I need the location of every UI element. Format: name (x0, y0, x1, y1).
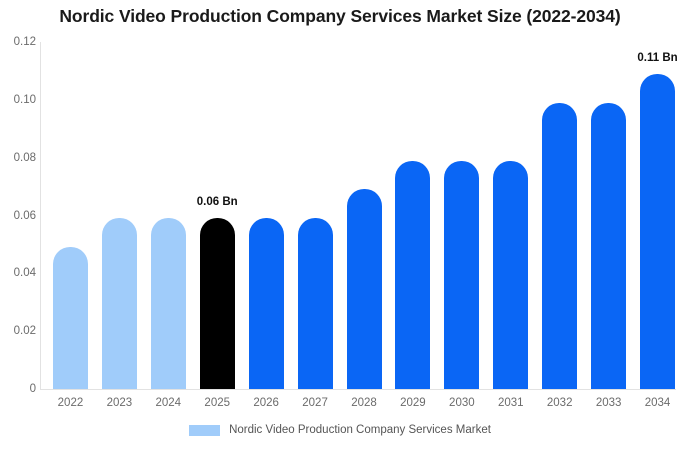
chart-legend: Nordic Video Production Company Services… (0, 424, 680, 436)
legend-item[interactable]: Nordic Video Production Company Services… (189, 424, 491, 436)
bar-chart: Nordic Video Production Company Services… (0, 0, 680, 450)
x-axis: 2022202320242025202620272028202920302031… (0, 0, 680, 450)
legend-label: Nordic Video Production Company Services… (229, 424, 491, 436)
data-label-2034: 0.11 Bn (613, 52, 680, 64)
data-label-2025: 0.06 Bn (172, 196, 262, 208)
x-tick-label-2034: 2034 (628, 397, 680, 409)
legend-swatch-icon (189, 425, 220, 436)
